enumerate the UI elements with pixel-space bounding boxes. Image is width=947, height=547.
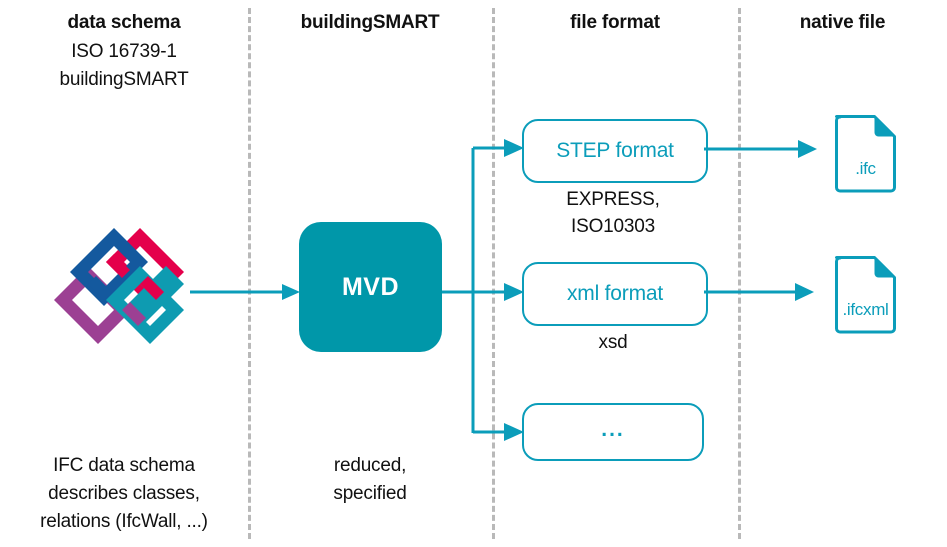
arrow-logo-to-mvd [190, 282, 302, 302]
mvd-label: MVD [342, 273, 399, 302]
format-note-xml-line1: xsd [522, 329, 704, 356]
document-icon [834, 253, 897, 333]
column-title-file-format: file format [492, 12, 738, 34]
format-box-other[interactable]: ... [522, 403, 704, 461]
document-icon [834, 112, 897, 192]
format-note-step-line1: EXPRESS, [522, 186, 704, 213]
caption-buildingsmart-line1: reduced, [248, 452, 492, 480]
caption-data-schema-line1: IFC data schema [0, 452, 248, 480]
buildingsmart-logo [44, 212, 194, 360]
column-subtitle-data-schema-line1: ISO 16739-1 [0, 38, 248, 66]
format-box-step-label: STEP format [556, 139, 674, 163]
format-box-step[interactable]: STEP format [522, 119, 708, 183]
branch-connector-mvd-to-formats [442, 138, 528, 448]
format-box-other-label: ... [601, 418, 625, 442]
diagram-canvas: data schema ISO 16739-1 buildingSMART bu… [0, 0, 947, 547]
arrow-step-to-ifc-file [704, 139, 819, 159]
file-icon-ifcxml[interactable]: .ifcxml [834, 253, 897, 333]
caption-data-schema-line3: relations (IfcWall, ...) [0, 508, 248, 536]
format-box-xml[interactable]: xml format [522, 262, 708, 326]
format-note-step-line2: ISO10303 [522, 213, 704, 240]
format-box-xml-label: xml format [567, 282, 663, 306]
column-divider-3 [738, 8, 741, 539]
buildingsmart-logo-svg [44, 212, 194, 360]
caption-buildingsmart-line2: specified [248, 480, 492, 508]
file-icon-ifc-label: .ifc [834, 159, 897, 179]
arrow-xml-to-ifcxml-file [704, 282, 816, 302]
column-title-native-file: native file [738, 12, 947, 34]
caption-data-schema-line2: describes classes, [0, 480, 248, 508]
column-title-buildingsmart: buildingSMART [248, 12, 492, 34]
mvd-box[interactable]: MVD [299, 222, 442, 352]
column-title-data-schema: data schema [0, 12, 248, 34]
file-icon-ifcxml-label: .ifcxml [832, 300, 899, 320]
file-icon-ifc[interactable]: .ifc [834, 112, 897, 192]
column-subtitle-data-schema-line2: buildingSMART [0, 66, 248, 94]
